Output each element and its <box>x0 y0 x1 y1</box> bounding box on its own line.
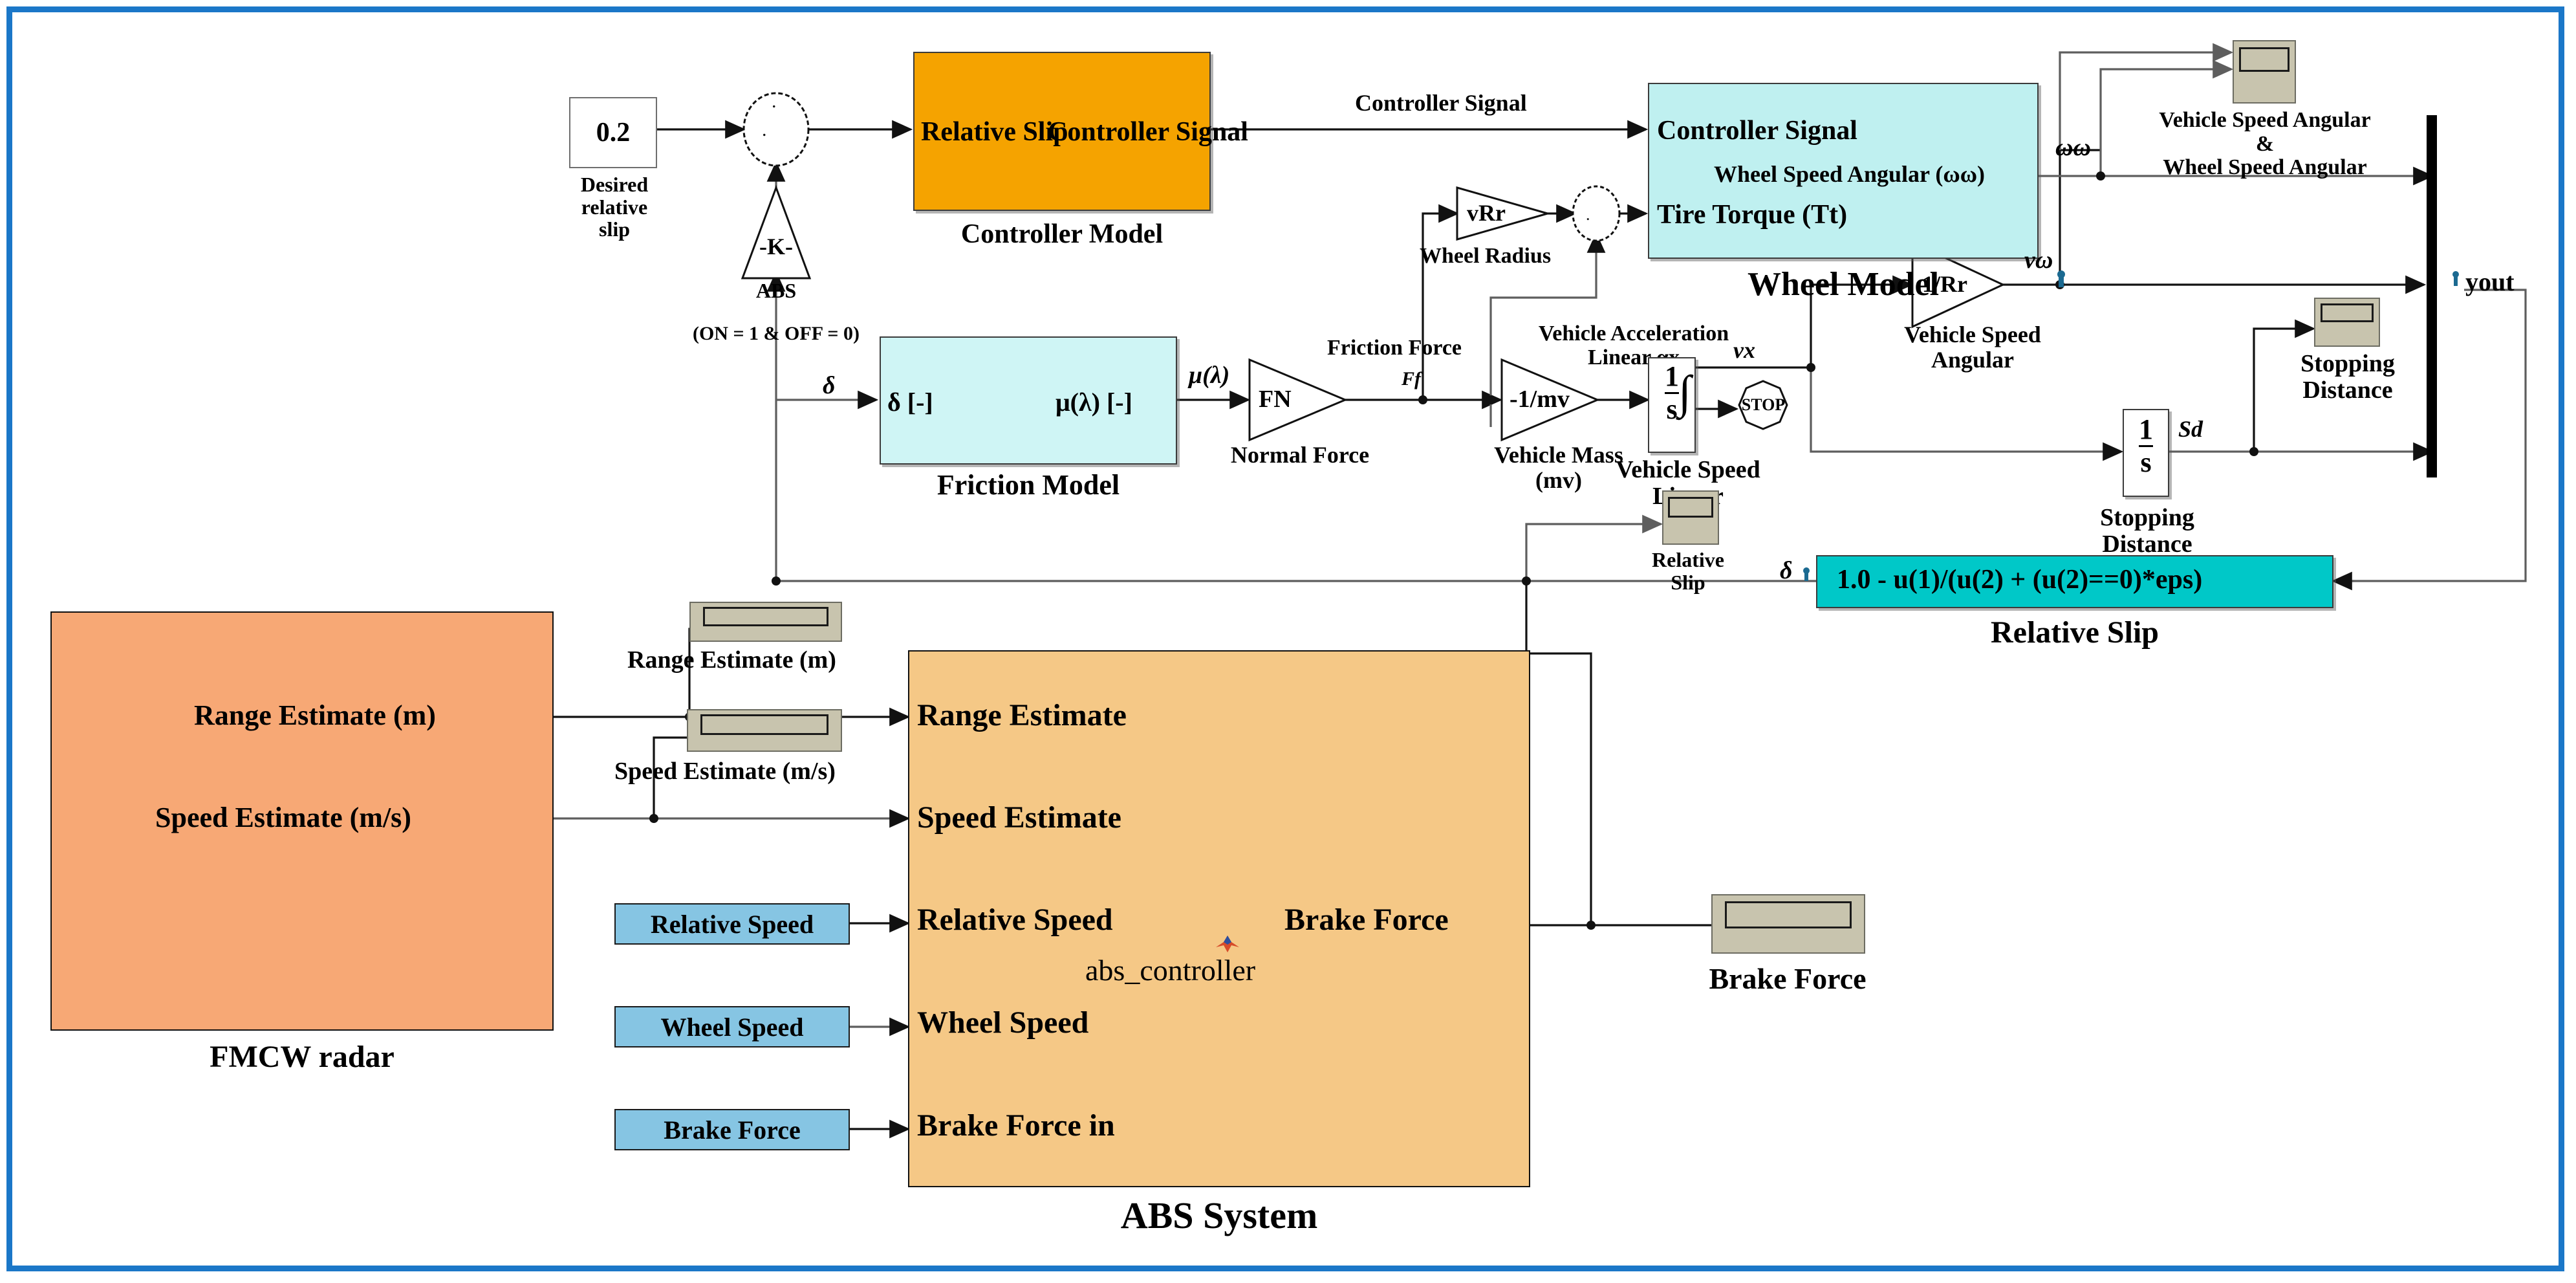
sum-junction-1: . . <box>744 91 808 166</box>
svg-text:.: . <box>1586 205 1590 224</box>
controller-signal-wire-label: Controller Signal <box>1355 91 1527 116</box>
wheel-radius-gain-value: vRr <box>1467 201 1506 226</box>
mux-bar-yout <box>2427 115 2437 477</box>
abs-outport-brake-force: Brake Force <box>1284 902 1449 938</box>
abs-gain-triangle <box>742 188 810 278</box>
desired-slip-source[interactable]: 0.2 <box>569 97 657 168</box>
omega-omega-label: ωω <box>2055 135 2091 161</box>
scope-vehicle-wheel-speed-caption: Vehicle Speed Angular&Wheel Speed Angula… <box>2142 109 2388 180</box>
integrator-2-symbol: 1s <box>2123 414 2169 477</box>
controller-model-outport-label: Controller Signal <box>1048 116 1248 148</box>
abs-gain-value: -K- <box>744 234 808 259</box>
svg-text:.: . <box>1591 230 1596 248</box>
wheel-model-inport2-label: Tire Torque (Tt) <box>1657 199 1847 230</box>
integral-glyph-1: ∫ <box>1678 367 1691 418</box>
stop-block-label: STOP <box>1739 396 1788 414</box>
mu-lambda-label: μ(λ) <box>1189 362 1229 389</box>
desired-slip-caption: Desiredrelativeslip <box>556 173 673 241</box>
port-block-brake-force[interactable]: Brake Force <box>614 1109 850 1150</box>
scope-brake-force-caption: Brake Force <box>1665 963 1910 995</box>
speed-estimate-wire-label: Speed Estimate (m/s) <box>614 758 836 785</box>
scope-stopping-distance[interactable] <box>2314 298 2380 347</box>
friction-model-inport-label: δ [-] <box>887 387 933 417</box>
scope-relative-slip-caption: RelativeSlip <box>1623 549 1753 593</box>
delta-right-label: δ <box>1780 558 1792 584</box>
fmcw-radar-caption: FMCW radar <box>50 1040 554 1074</box>
abs-inport-speed-estimate: Speed Estimate <box>917 800 1121 835</box>
inv-rr-gain-value: 1/Rr <box>1922 272 1967 297</box>
wheel-model-inport1-label: Controller Signal <box>1657 115 1857 146</box>
delta-left-label: δ <box>823 373 835 399</box>
vehicle-acceleration-label: Vehicle AccelerationLinear αx <box>1511 322 1757 369</box>
scope-speed-estimate[interactable] <box>687 709 842 752</box>
yout-label: yout <box>2465 268 2515 296</box>
svg-text:.: . <box>772 91 777 112</box>
wheel-model-outport-label: Wheel Speed Angular (ωω) <box>1714 160 1985 188</box>
vx-label: νx <box>1733 338 1755 363</box>
port-block-wheel-speed[interactable]: Wheel Speed <box>614 1006 850 1047</box>
sum-junction-2: . . <box>1573 186 1619 248</box>
scope-range-estimate[interactable] <box>689 602 842 642</box>
abs-inport-wheel-speed: Wheel Speed <box>917 1005 1088 1040</box>
relative-slip-fcn-caption: Relative Slip <box>1816 616 2333 650</box>
port-wheel-speed-label: Wheel Speed <box>660 1012 803 1042</box>
wheel-radius-gain-caption: Wheel Radius <box>1420 245 1551 269</box>
fmcw-radar-outport2-label: Speed Estimate (m/s) <box>155 801 411 834</box>
desired-slip-value: 0.2 <box>596 117 631 148</box>
normal-force-gain-value: FN <box>1259 386 1292 413</box>
vehicle-mass-gain-value: -1/mv <box>1510 386 1570 413</box>
friction-model-caption: Friction Model <box>880 470 1177 501</box>
block-diagram-canvas: . . . . 0.2 Desiredrelativeslip -K- ABS … <box>0 0 2576 1283</box>
yout-port-marker <box>2451 270 2460 287</box>
scope-vehicle-wheel-speed-angular[interactable] <box>2233 40 2296 104</box>
abs-system-caption: ABS System <box>908 1196 1530 1236</box>
scope-brake-force[interactable] <box>1711 894 1865 954</box>
v-omega-label: νω <box>2024 247 2053 274</box>
normal-force-gain-caption: Normal Force <box>1222 443 1378 468</box>
ff-label: Ff <box>1402 369 1421 389</box>
sd-label: Sd <box>2178 417 2203 442</box>
delta-port-marker <box>1802 567 1811 584</box>
signal-marker-vw <box>2053 270 2070 290</box>
friction-force-label: Friction Force <box>1327 336 1462 360</box>
abs-gain-caption: ABS <box>731 280 821 302</box>
abs-model-reference-label: abs_controller <box>1085 954 1255 987</box>
fmcw-radar-outport1-label: Range Estimate (m) <box>194 699 436 732</box>
stopping-distance-integrator-caption: StoppingDistance <box>2070 505 2225 558</box>
inv-rr-gain-caption: Vehicle SpeedAngular <box>1889 322 2057 373</box>
matlab-logo-icon <box>1215 933 1240 955</box>
port-block-relative-speed[interactable]: Relative Speed <box>614 903 850 945</box>
port-brake-force-label: Brake Force <box>664 1115 800 1145</box>
abs-gain-note: (ON = 1 & OFF = 0) <box>673 323 880 344</box>
controller-model-caption: Controller Model <box>913 220 1211 249</box>
abs-inport-relative-speed: Relative Speed <box>917 902 1113 938</box>
relative-slip-fcn-expression: 1.0 - u(1)/(u(2) + (u(2)==0)*eps) <box>1837 565 2202 595</box>
port-relative-speed-label: Relative Speed <box>651 909 814 939</box>
range-estimate-wire-label: Range Estimate (m) <box>627 647 836 674</box>
abs-inport-range-estimate: Range Estimate <box>917 697 1127 733</box>
friction-model-outport-label: μ(λ) [-] <box>1055 387 1132 417</box>
abs-inport-brake-force-in: Brake Force in <box>917 1108 1115 1143</box>
svg-text:.: . <box>762 119 767 140</box>
scope-relative-slip[interactable] <box>1662 490 1719 545</box>
scope-stopping-distance-caption: StoppingDistance <box>2270 351 2425 404</box>
controller-model-inport-label: Relative Slip <box>921 116 1068 148</box>
wheel-model-caption: Wheel Model <box>1648 267 2039 303</box>
